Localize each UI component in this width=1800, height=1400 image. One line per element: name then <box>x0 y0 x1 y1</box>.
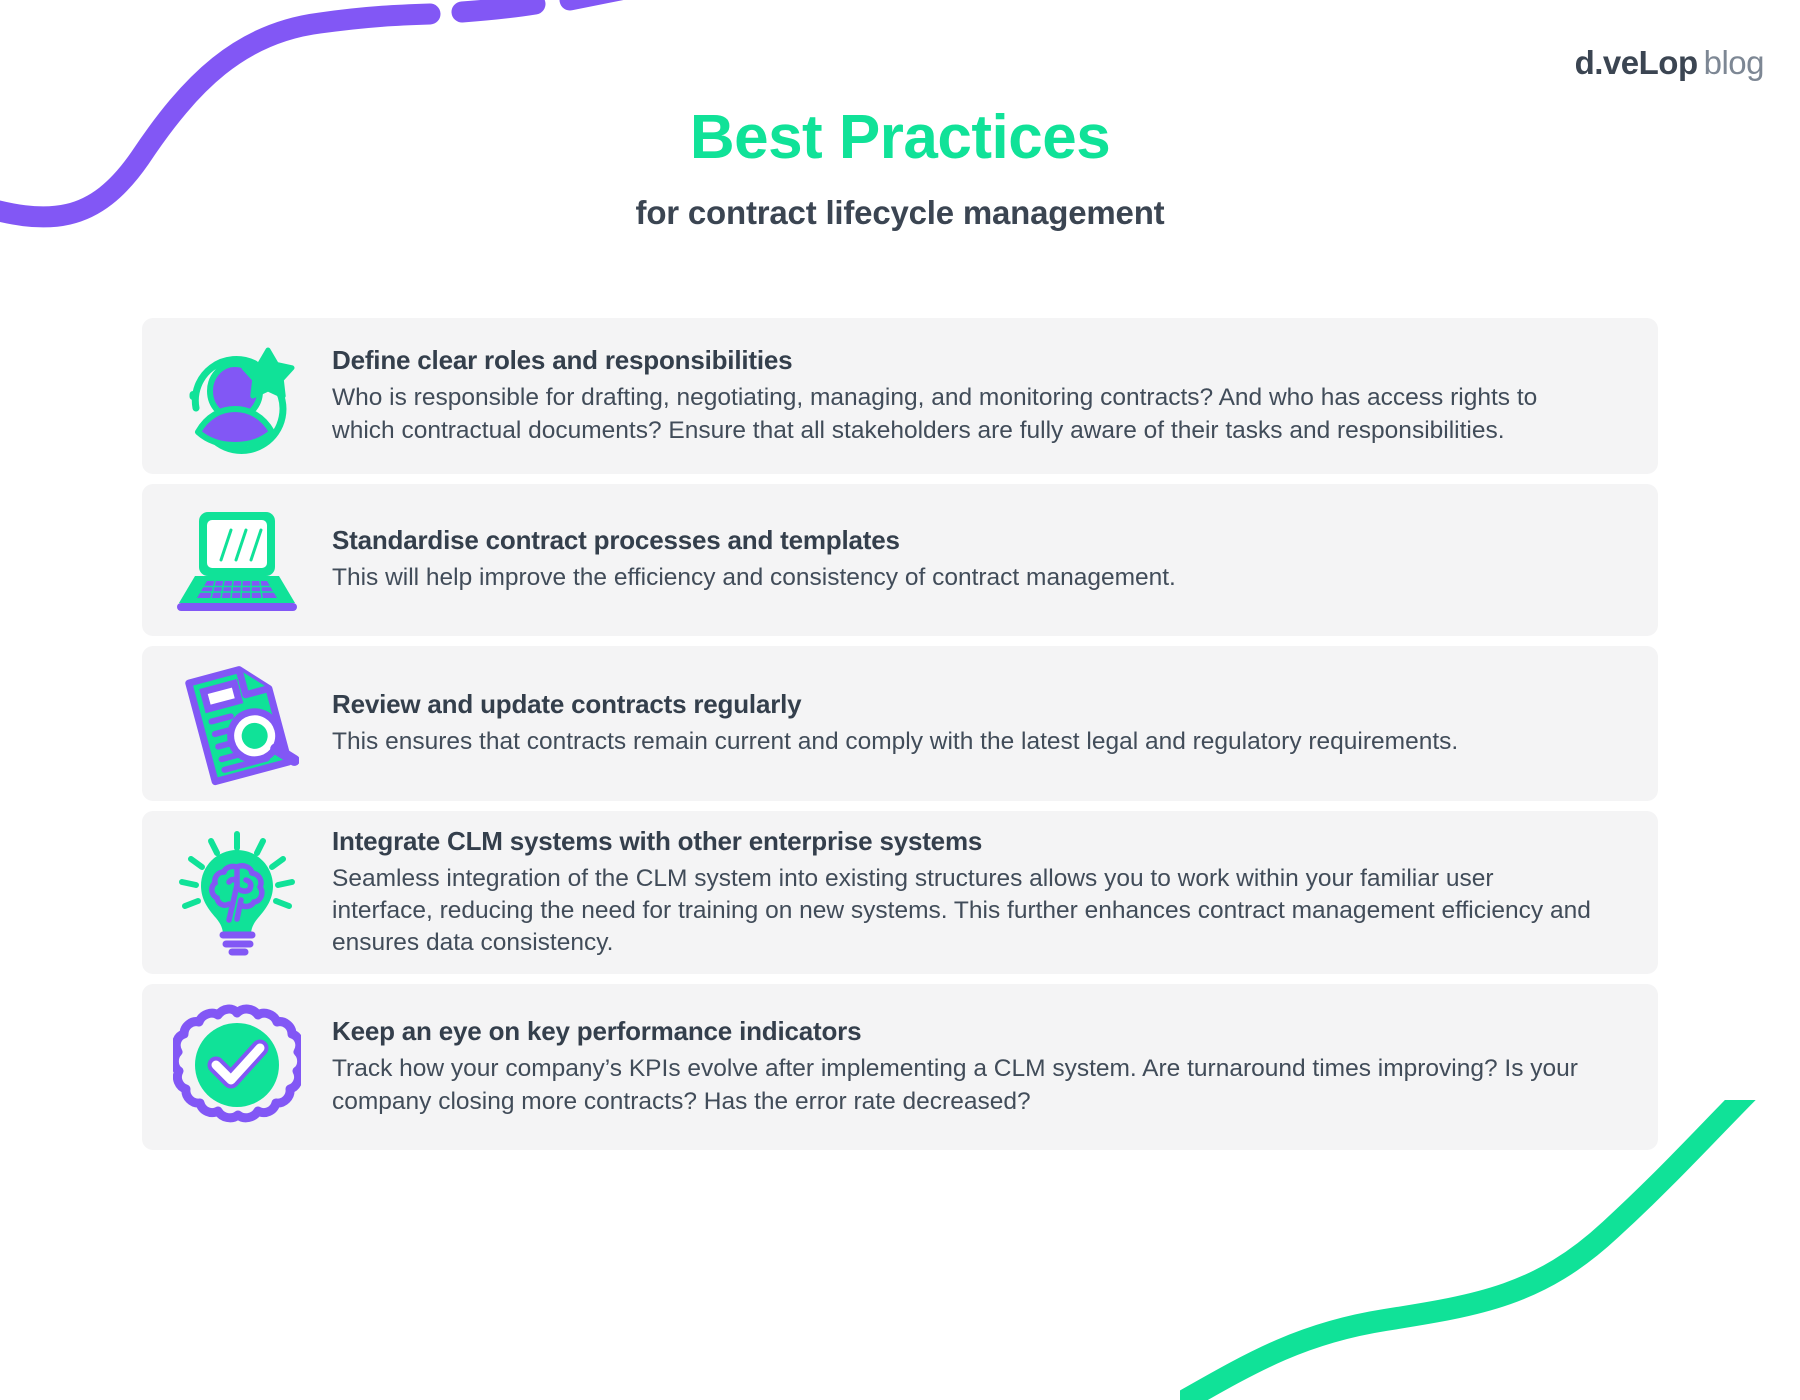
practice-card-body: Keep an eye on key performance indicator… <box>332 1016 1630 1118</box>
practice-card: Standardise contract processes and templ… <box>142 484 1658 636</box>
practice-text: This will help improve the efficiency an… <box>332 562 1600 594</box>
practice-text: Track how your company’s KPIs evolve aft… <box>332 1053 1600 1118</box>
practice-card-body: Define clear roles and responsibilities … <box>332 345 1630 447</box>
practice-card: Define clear roles and responsibilities … <box>142 318 1658 474</box>
practice-heading: Integrate CLM systems with other enterpr… <box>332 826 1600 857</box>
lightbulb-brain-icon <box>142 811 332 974</box>
practice-text: Seamless integration of the CLM system i… <box>332 863 1600 960</box>
practice-card-body: Review and update contracts regularly Th… <box>332 689 1630 758</box>
practice-heading: Review and update contracts regularly <box>332 689 1600 720</box>
practice-heading: Standardise contract processes and templ… <box>332 525 1600 556</box>
practice-card: Keep an eye on key performance indicator… <box>142 984 1658 1150</box>
laptop-icon <box>142 484 332 636</box>
practice-card-body: Integrate CLM systems with other enterpr… <box>332 826 1630 960</box>
practice-heading: Keep an eye on key performance indicator… <box>332 1016 1600 1047</box>
page-title: Best Practices <box>0 105 1800 170</box>
practice-card: Review and update contracts regularly Th… <box>142 646 1658 801</box>
brand-logo-sub: blog <box>1704 44 1764 81</box>
brand-logo-main: d.veLop <box>1575 44 1698 81</box>
practice-text: Who is responsible for drafting, negotia… <box>332 382 1600 447</box>
practice-heading: Define clear roles and responsibilities <box>332 345 1600 376</box>
brand-logo: d.veLopblog <box>1575 44 1764 82</box>
user-star-icon <box>142 318 332 474</box>
check-badge-icon <box>142 984 332 1150</box>
page-subtitle: for contract lifecycle management <box>0 194 1800 232</box>
document-magnifier-icon <box>142 646 332 801</box>
practice-list: Define clear roles and responsibilities … <box>142 318 1658 1160</box>
practice-card-body: Standardise contract processes and templ… <box>332 525 1630 594</box>
practice-text: This ensures that contracts remain curre… <box>332 726 1600 758</box>
practice-card: Integrate CLM systems with other enterpr… <box>142 811 1658 974</box>
header: Best Practices for contract lifecycle ma… <box>0 105 1800 232</box>
